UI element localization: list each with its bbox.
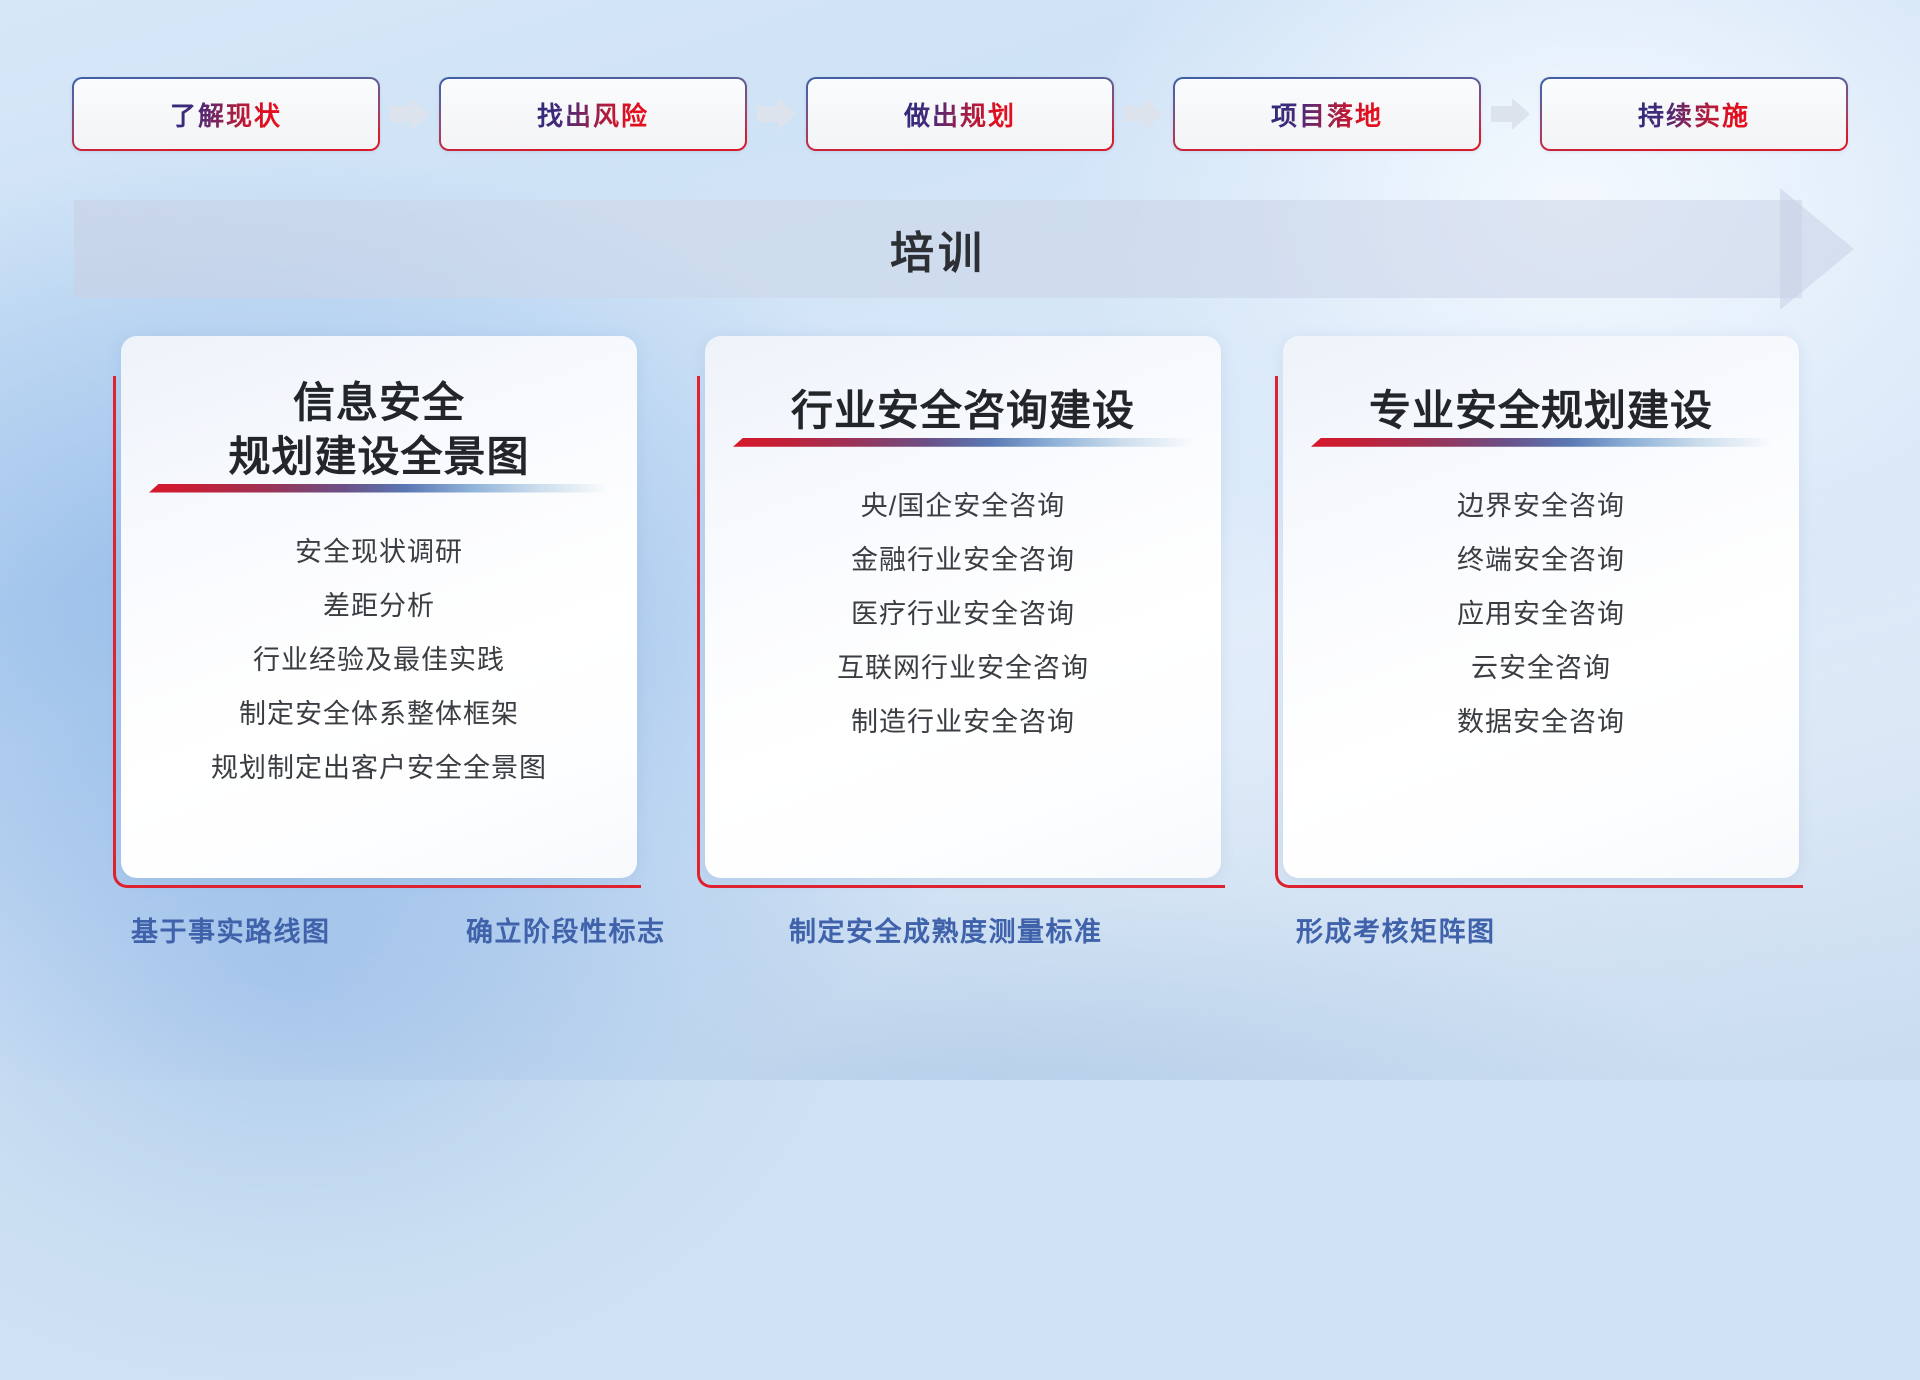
card-information-security-panorama[interactable]: 信息安全 规划建设全景图 安全现状调研 差距分析 行业经验及最佳实践 制定安全体…: [113, 336, 641, 888]
process-step-label: 了解现状: [170, 96, 282, 133]
card-title-line-1: 专业安全规划建设: [1307, 384, 1775, 438]
card-row: 信息安全 规划建设全景图 安全现状调研 差距分析 行业经验及最佳实践 制定安全体…: [0, 336, 1920, 896]
card-item-list: 边界安全咨询 终端安全咨询 应用安全咨询 云安全咨询 数据安全咨询: [1307, 493, 1775, 736]
card-professional-security-planning[interactable]: 专业安全规划建设 边界安全咨询 终端安全咨询 应用安全咨询 云安全咨询 数据安全…: [1275, 336, 1803, 888]
list-item: 规划制定出客户安全全景图: [145, 755, 613, 782]
list-item: 终端安全咨询: [1307, 547, 1775, 574]
arrow-right-icon: [1124, 97, 1164, 131]
process-step-label: 项目落地: [1271, 96, 1383, 133]
footer-label-row: 基于事实路线图 确立阶段性标志 制定安全成熟度测量标准 形成考核矩阵图: [0, 910, 1920, 960]
process-step-label: 持续实施: [1638, 96, 1750, 133]
list-item: 制造行业安全咨询: [729, 709, 1197, 736]
list-item: 安全现状调研: [145, 539, 613, 566]
process-step-4[interactable]: 项目落地: [1173, 77, 1481, 151]
arrow-right-icon: [390, 97, 430, 131]
card-item-list: 安全现状调研 差距分析 行业经验及最佳实践 制定安全体系整体框架 规划制定出客户…: [145, 539, 613, 782]
footer-label-maturity: 制定安全成熟度测量标准: [789, 910, 1103, 949]
arrow-right-icon: [757, 97, 797, 131]
card-item-list: 央/国企安全咨询 金融行业安全咨询 医疗行业安全咨询 互联网行业安全咨询 制造行…: [729, 493, 1197, 736]
process-step-label: 找出风险: [537, 96, 649, 133]
arrow-right-icon: [1491, 97, 1531, 131]
list-item: 央/国企安全咨询: [729, 493, 1197, 520]
list-item: 应用安全咨询: [1307, 601, 1775, 628]
list-item: 云安全咨询: [1307, 655, 1775, 682]
footer-label-roadmap: 基于事实路线图: [131, 910, 331, 949]
card-body: 信息安全 规划建设全景图 安全现状调研 差距分析 行业经验及最佳实践 制定安全体…: [121, 336, 637, 878]
list-item: 制定安全体系整体框架: [145, 701, 613, 728]
list-item: 差距分析: [145, 593, 613, 620]
list-item: 互联网行业安全咨询: [729, 655, 1197, 682]
list-item: 金融行业安全咨询: [729, 547, 1197, 574]
process-step-5[interactable]: 持续实施: [1540, 77, 1848, 151]
card-industry-security-consulting[interactable]: 行业安全咨询建设 央/国企安全咨询 金融行业安全咨询 医疗行业安全咨询 互联网行…: [697, 336, 1225, 888]
banner-title: 培训: [74, 200, 1802, 298]
process-step-1[interactable]: 了解现状: [72, 77, 380, 151]
card-title-line-1: 信息安全: [145, 376, 613, 430]
training-banner-arrow: 培训: [74, 200, 1854, 298]
card-title-line-2: 规划建设全景图: [145, 430, 613, 484]
list-item: 边界安全咨询: [1307, 493, 1775, 520]
card-body: 行业安全咨询建设 央/国企安全咨询 金融行业安全咨询 医疗行业安全咨询 互联网行…: [705, 336, 1221, 878]
card-title: 专业安全规划建设: [1307, 384, 1775, 438]
footer-label-milestone: 确立阶段性标志: [466, 910, 666, 949]
footer-label-matrix: 形成考核矩阵图: [1296, 910, 1496, 949]
process-step-3[interactable]: 做出规划: [806, 77, 1114, 151]
card-divider: [1311, 438, 1771, 447]
card-title: 信息安全 规划建设全景图: [145, 376, 613, 484]
card-divider: [733, 438, 1193, 447]
list-item: 行业经验及最佳实践: [145, 647, 613, 674]
card-title-line-1: 行业安全咨询建设: [729, 384, 1197, 438]
list-item: 医疗行业安全咨询: [729, 601, 1197, 628]
card-title: 行业安全咨询建设: [729, 384, 1197, 438]
process-step-label: 做出规划: [904, 96, 1016, 133]
list-item: 数据安全咨询: [1307, 709, 1775, 736]
process-step-row: 了解现状 找出风险 做出规划 项目落地 持续实施: [72, 78, 1848, 150]
card-divider: [149, 484, 609, 493]
card-body: 专业安全规划建设 边界安全咨询 终端安全咨询 应用安全咨询 云安全咨询 数据安全…: [1283, 336, 1799, 878]
process-step-2[interactable]: 找出风险: [439, 77, 747, 151]
